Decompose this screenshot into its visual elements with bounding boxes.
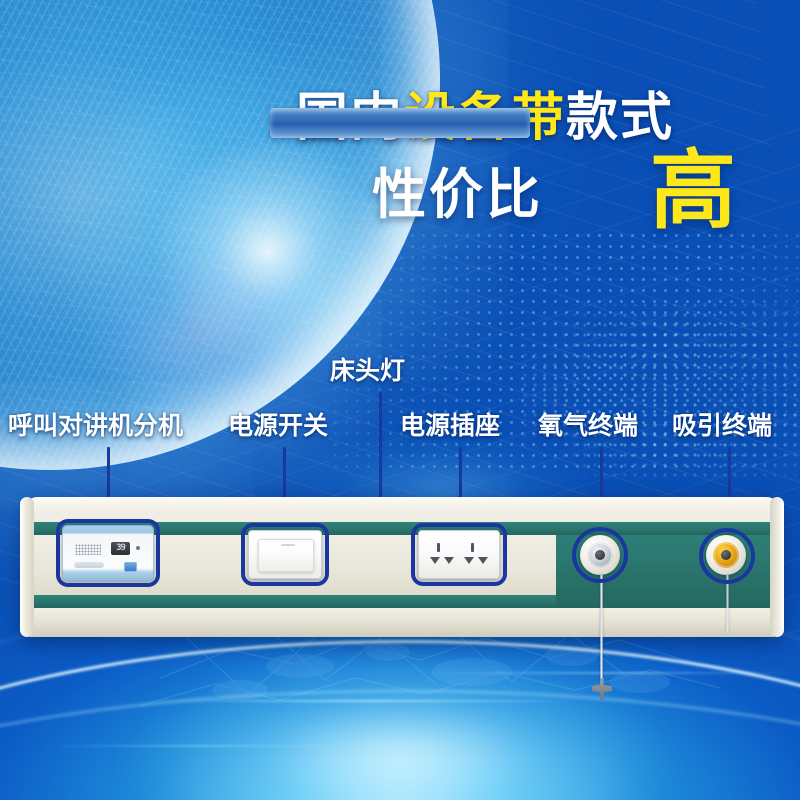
highlight-circle-oxygen xyxy=(572,527,628,583)
callout-label-socket: 电源插座 xyxy=(400,413,500,438)
highlight-box-switch xyxy=(241,523,329,586)
highlight-box-socket xyxy=(411,523,507,586)
unit-stripe-bottom xyxy=(22,595,556,608)
callout-label-oxygen: 氧气终端 xyxy=(538,413,638,438)
unit-end-cap-left xyxy=(20,497,34,637)
unit-end-cap-right xyxy=(770,497,784,637)
bed-head-lamp-strip[interactable] xyxy=(270,108,530,138)
callout-label-bedlight: 床头灯 xyxy=(330,358,405,383)
oxygen-terminal-cord xyxy=(600,575,603,685)
callout-label-suction: 吸引终端 xyxy=(672,413,772,438)
callout-label-switch: 电源开关 xyxy=(228,413,328,438)
highlight-circle-suction xyxy=(699,528,755,584)
callout-label-intercom: 呼叫对讲机分机 xyxy=(8,413,183,438)
highlight-box-intercom xyxy=(56,519,160,587)
product-banner: 国内设备带款式 性价比 高 呼叫对讲机分机 电源开关 床头灯 电源插座 氧气终端… xyxy=(0,0,800,800)
unit-bottom-edge xyxy=(22,608,782,637)
